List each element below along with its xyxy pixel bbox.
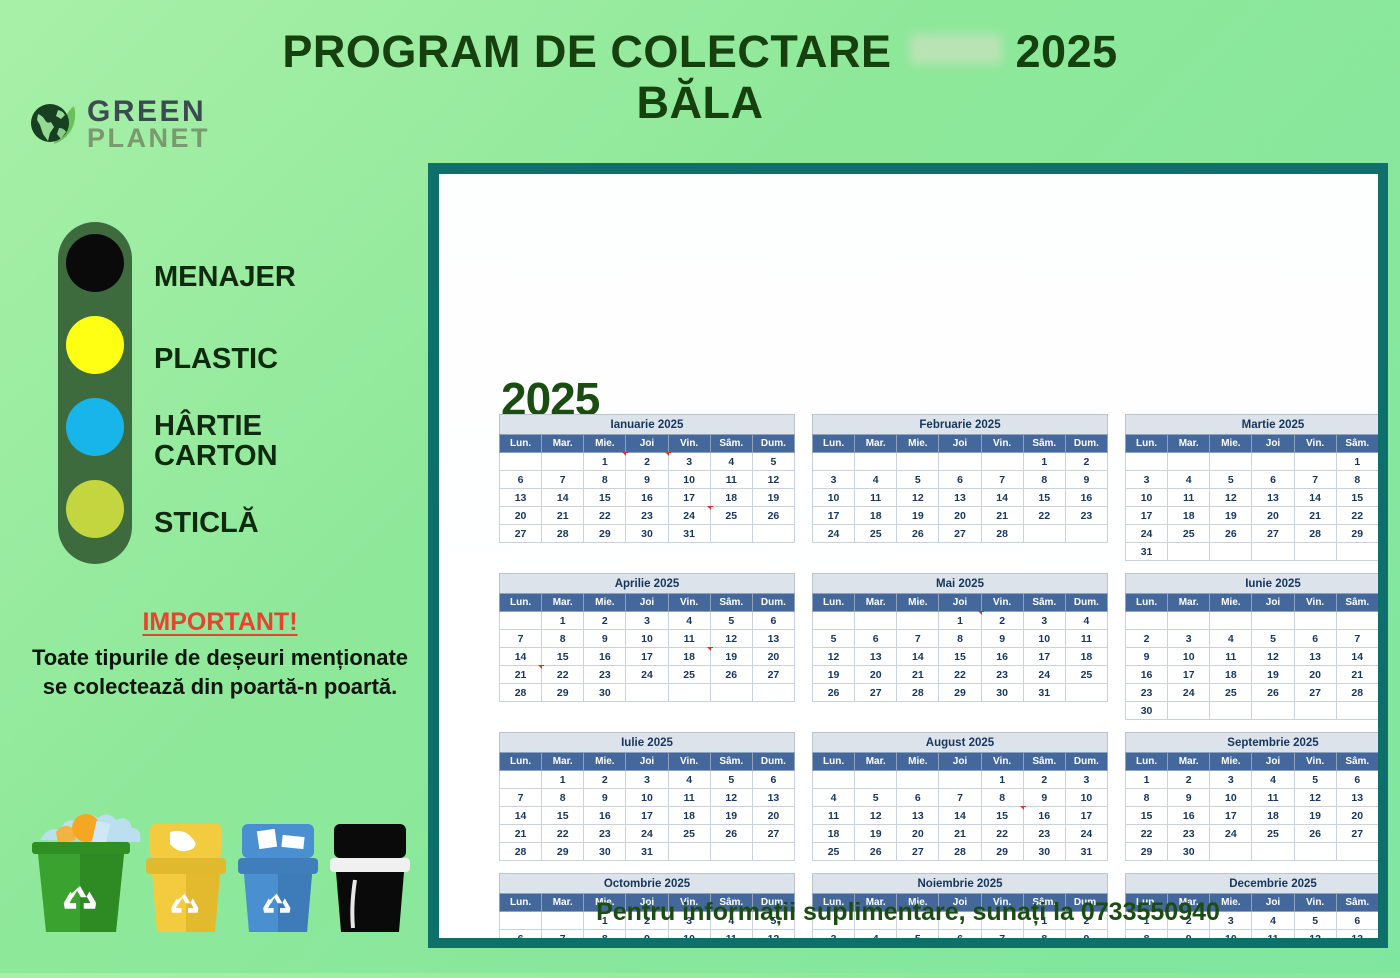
day-cell-empty [813,612,855,630]
day-cell: 20 [752,807,794,825]
day-cell: 11 [1252,789,1294,807]
day-cell: 7 [897,630,939,648]
day-cell: 1 [1336,453,1378,471]
day-cell-empty [897,771,939,789]
month-table: Lun.Mar.Mie.JoiVin.Sâm.Dum.1234567891011… [499,752,795,861]
day-cell: 4 [855,471,897,489]
day-cell: 9 [626,930,668,939]
legend-label-plastic: PLASTIC [154,318,296,400]
weekday-header: Dum. [1065,435,1107,453]
day-cell: 7 [939,789,981,807]
day-cell: 13 [752,789,794,807]
day-cell: 3 [1065,771,1107,789]
day-cell-empty [1252,453,1294,471]
day-cell: 5 [710,771,752,789]
day-cell: 21 [542,507,584,525]
day-cell: 17 [1168,666,1210,684]
day-cell: 19 [813,666,855,684]
week-row: 25262728293031 [813,843,1108,861]
day-cell: 8 [1023,930,1065,939]
day-cell: 13 [1294,648,1336,666]
day-cell: 4 [1210,630,1252,648]
day-cell: 7 [500,630,542,648]
day-cell: 18 [855,507,897,525]
day-cell: 24 [1023,666,1065,684]
recycling-bins-illustration [10,798,430,973]
week-row: 18192021222324 [813,825,1108,843]
day-cell: 4 [710,453,752,471]
day-cell: 28 [500,843,542,861]
day-cell: 1 [981,771,1023,789]
weekday-header: Sâm. [1023,435,1065,453]
weekday-header: Lun. [1126,435,1168,453]
day-cell: 17 [626,807,668,825]
month-block: Iunie 2025Lun.Mar.Mie.JoiVin.Sâm.Dum.123… [1125,573,1378,732]
day-cell: 8 [1126,930,1168,939]
weekday-header: Vin. [668,753,710,771]
day-cell: 26 [710,666,752,684]
day-cell: 29 [1336,525,1378,543]
day-cell: 26 [813,684,855,702]
day-cell: 22 [981,825,1023,843]
month-spacer [499,702,795,714]
day-cell: 14 [500,807,542,825]
week-row: 1234 [813,612,1108,630]
day-cell: 16 [981,648,1023,666]
important-note: IMPORTANT! Toate tipurile de deșeuri men… [0,608,440,701]
day-cell: 14 [897,648,939,666]
day-cell: 15 [542,807,584,825]
week-row: 24252627282930 [1126,525,1379,543]
day-cell: 2 [1168,771,1210,789]
weekday-header: Sâm. [1336,753,1378,771]
weekday-header: Joi [1252,753,1294,771]
week-row: 891011121314 [1126,789,1379,807]
weekday-header: Joi [939,435,981,453]
day-cell: 3 [813,471,855,489]
day-cell: 19 [1294,807,1336,825]
day-cell: 13 [1336,789,1378,807]
month-spacer [499,861,795,873]
calendar-months-grid: Ianuarie 2025Lun.Mar.Mie.JoiVin.Sâm.Dum.… [499,414,1378,938]
day-cell: 15 [1023,489,1065,507]
legend-label-sticla: STICLĂ [154,482,296,564]
day-cell: 19 [710,648,752,666]
day-cell: 23 [1023,825,1065,843]
day-cell: 24 [1210,825,1252,843]
day-cell: 27 [855,684,897,702]
brand-logo: GREEN PLANET [28,98,210,150]
day-cell: 30 [584,843,626,861]
day-cell: 26 [752,507,794,525]
day-cell-empty [1168,702,1210,720]
day-cell: 12 [897,489,939,507]
weekday-header: Lun. [1126,753,1168,771]
day-cell: 1 [939,612,981,630]
day-cell: 9 [1065,930,1107,939]
week-row: 10111213141516 [1126,489,1379,507]
day-cell: 14 [1294,489,1336,507]
day-cell: 23 [584,666,626,684]
weekday-header: Joi [626,435,668,453]
weekday-header: Sâm. [1023,753,1065,771]
month-title: Octombrie 2025 [499,873,795,893]
day-cell: 9 [1168,930,1210,939]
day-cell: 11 [855,489,897,507]
day-cell: 3 [626,771,668,789]
week-row: 262728293031 [813,684,1108,702]
month-block: Iulie 2025Lun.Mar.Mie.JoiVin.Sâm.Dum.123… [499,732,795,873]
day-cell: 29 [584,525,626,543]
day-cell: 8 [1023,471,1065,489]
month-title: August 2025 [812,732,1108,752]
day-cell: 11 [1252,930,1294,939]
legend-dot-menajer [66,234,124,292]
week-row: 2728293031 [500,525,795,543]
day-cell: 6 [752,612,794,630]
day-cell-empty [1210,543,1252,561]
day-cell-empty [1294,843,1336,861]
week-row: 13141516171819 [500,489,795,507]
weekday-header: Mar. [542,594,584,612]
day-cell-empty [1065,684,1107,702]
day-cell: 9 [1168,789,1210,807]
day-cell: 15 [584,489,626,507]
day-cell-empty [1294,453,1336,471]
day-cell: 31 [626,843,668,861]
day-cell: 25 [813,843,855,861]
day-cell: 20 [500,507,542,525]
day-cell: 22 [939,666,981,684]
day-cell: 22 [1126,825,1168,843]
weekday-header: Lun. [500,753,542,771]
day-cell: 28 [939,843,981,861]
important-heading: IMPORTANT! [0,608,440,637]
day-cell: 4 [1065,612,1107,630]
week-row: 22232425262728 [1126,825,1379,843]
day-cell: 2 [584,771,626,789]
day-cell: 25 [1065,666,1107,684]
day-cell: 13 [939,489,981,507]
month-spacer [812,702,1108,714]
week-row: 12345 [500,453,795,471]
day-cell: 27 [752,825,794,843]
month-table: Lun.Mar.Mie.JoiVin.Sâm.Dum.1234567891011… [812,593,1108,702]
day-cell: 3 [813,930,855,939]
week-row: 891011121314 [1126,930,1379,939]
day-cell: 16 [626,489,668,507]
day-cell: 30 [626,525,668,543]
day-cell: 19 [1252,666,1294,684]
weekday-header: Mie. [584,594,626,612]
day-cell: 22 [542,666,584,684]
day-cell: 30 [981,684,1023,702]
day-cell: 25 [855,525,897,543]
day-cell: 1 [542,612,584,630]
day-cell: 8 [542,789,584,807]
day-cell: 21 [1294,507,1336,525]
day-cell: 15 [542,648,584,666]
day-cell: 16 [1168,807,1210,825]
day-cell: 5 [1252,630,1294,648]
weekday-header: Sâm. [710,594,752,612]
day-cell: 27 [939,525,981,543]
day-cell: 24 [626,666,668,684]
day-cell: 18 [710,489,752,507]
day-cell: 9 [584,630,626,648]
weekday-header: Mar. [855,594,897,612]
day-cell: 28 [542,525,584,543]
day-cell: 10 [668,471,710,489]
day-cell: 25 [668,825,710,843]
day-cell: 6 [939,930,981,939]
day-cell-empty [1126,453,1168,471]
day-cell: 6 [939,471,981,489]
week-row: 21222324252627 [500,666,795,684]
day-cell: 5 [897,471,939,489]
day-cell-empty [1168,543,1210,561]
legend-text-plastic: PLASTIC [154,344,296,374]
day-cell: 23 [981,666,1023,684]
waste-type-legend: MENAJER PLASTIC HÂRTIE CARTON STICLĂ [58,222,296,564]
week-row: 14151617181920 [500,807,795,825]
day-cell-empty [542,453,584,471]
day-cell: 9 [981,630,1023,648]
week-row: 12 [813,453,1108,471]
day-cell: 3 [1023,612,1065,630]
day-cell: 6 [897,789,939,807]
day-cell: 29 [1126,843,1168,861]
day-cell: 10 [813,489,855,507]
day-cell-empty [1210,702,1252,720]
day-cell: 18 [668,807,710,825]
weekday-header: Mar. [1168,435,1210,453]
week-row: 11121314151617 [813,807,1108,825]
week-row: 78910111213 [500,630,795,648]
weekday-header: Dum. [752,753,794,771]
day-cell: 19 [855,825,897,843]
city-name: BĂLA [0,77,1400,129]
day-cell: 28 [1294,525,1336,543]
weekday-header: Lun. [813,753,855,771]
month-table: Lun.Mar.Mie.JoiVin.Sâm.Dum.1234567891011… [812,434,1108,543]
day-cell: 31 [1065,843,1107,861]
week-row: 3456789 [813,930,1108,939]
day-cell: 23 [1065,507,1107,525]
day-cell: 3 [1210,771,1252,789]
month-title: Septembrie 2025 [1125,732,1378,752]
day-cell: 12 [1294,789,1336,807]
day-cell: 4 [813,789,855,807]
day-cell: 15 [981,807,1023,825]
calendar-panel-inner: 2025 Ianuarie 2025Lun.Mar.Mie.JoiVin.Sâm… [439,174,1378,938]
day-cell-empty [855,453,897,471]
day-cell: 14 [939,807,981,825]
day-cell: 5 [813,630,855,648]
day-cell: 25 [1210,684,1252,702]
day-cell: 12 [1252,648,1294,666]
day-cell: 5 [897,930,939,939]
day-cell: 23 [1168,825,1210,843]
day-cell-empty [1168,453,1210,471]
weekday-header: Sâm. [710,753,752,771]
weekday-header: Mie. [897,435,939,453]
day-cell-empty [855,771,897,789]
day-cell: 23 [626,507,668,525]
day-cell: 13 [855,648,897,666]
month-title: Iulie 2025 [499,732,795,752]
day-cell: 4 [668,771,710,789]
day-cell: 3 [1168,630,1210,648]
day-cell-empty [1336,543,1378,561]
day-cell: 10 [1210,930,1252,939]
day-cell: 1 [584,453,626,471]
weekday-header: Vin. [981,753,1023,771]
weekday-header: Vin. [1294,753,1336,771]
legend-text-carton: CARTON [154,441,296,471]
green-bin-icon [32,814,140,932]
day-cell: 11 [710,930,752,939]
day-cell: 5 [710,612,752,630]
globe-leaf-icon [28,98,80,150]
month-spacer [812,861,1108,873]
week-row: 17181920212223 [813,507,1108,525]
day-cell: 12 [752,471,794,489]
day-cell: 26 [855,843,897,861]
day-cell: 20 [897,825,939,843]
day-cell: 21 [939,825,981,843]
week-row: 6789101112 [500,930,795,939]
day-cell: 31 [668,525,710,543]
day-cell: 7 [981,930,1023,939]
day-cell: 21 [981,507,1023,525]
day-cell: 11 [813,807,855,825]
day-cell: 27 [500,525,542,543]
legend-text-hartie: HÂRTIE [154,411,296,441]
month-title: Aprilie 2025 [499,573,795,593]
weekday-header: Mar. [1168,753,1210,771]
day-cell: 26 [710,825,752,843]
day-cell: 2 [981,612,1023,630]
logo-line-planet: PLANET [87,126,210,151]
day-cell: 11 [1210,648,1252,666]
weekday-header: Mie. [1210,435,1252,453]
weekday-header: Dum. [1065,753,1107,771]
yellow-bin-icon [146,824,226,932]
day-cell: 10 [1210,789,1252,807]
week-row: 567891011 [813,630,1108,648]
contact-footer: Pentru informații suplimentare, sunați l… [428,898,1388,927]
day-cell: 14 [981,489,1023,507]
month-block: Februarie 2025Lun.Mar.Mie.JoiVin.Sâm.Dum… [812,414,1108,573]
day-cell: 13 [1336,930,1378,939]
day-cell: 28 [1336,684,1378,702]
day-cell-empty [813,771,855,789]
day-cell: 7 [542,930,584,939]
day-cell: 6 [855,630,897,648]
day-cell: 17 [1065,807,1107,825]
day-cell: 29 [542,843,584,861]
week-row: 16171819202122 [1126,666,1379,684]
day-cell-empty [1210,843,1252,861]
day-cell: 1 [1126,771,1168,789]
day-cell: 23 [1126,684,1168,702]
day-cell: 8 [981,789,1023,807]
day-cell-empty [1126,612,1168,630]
day-cell: 24 [1126,525,1168,543]
day-cell: 9 [1023,789,1065,807]
day-cell: 11 [1168,489,1210,507]
week-row: 10111213141516 [813,489,1108,507]
day-cell: 10 [1126,489,1168,507]
day-cell: 3 [668,453,710,471]
weekday-header: Vin. [668,435,710,453]
day-cell: 15 [939,648,981,666]
weekday-header: Dum. [1065,594,1107,612]
day-cell: 26 [897,525,939,543]
month-table: Lun.Mar.Mie.JoiVin.Sâm.Dum.1234567891011… [499,434,795,543]
day-cell: 18 [1210,666,1252,684]
day-cell: 6 [1336,771,1378,789]
day-cell-empty [897,453,939,471]
week-row: 21222324252627 [500,825,795,843]
week-row: 123456 [500,771,795,789]
day-cell: 30 [1168,843,1210,861]
day-cell-empty [1168,612,1210,630]
day-cell: 17 [813,507,855,525]
month-table: Lun.Mar.Mie.JoiVin.Sâm.Dum.1234567891011… [812,752,1108,861]
day-cell: 10 [626,789,668,807]
day-cell-empty [1294,543,1336,561]
day-cell: 2 [1065,453,1107,471]
month-title: Noiembrie 2025 [812,873,1108,893]
legend-dot-sticla [66,480,124,538]
day-cell: 16 [1023,807,1065,825]
legend-traffic-bar [58,222,132,564]
day-cell: 14 [500,648,542,666]
day-cell: 18 [813,825,855,843]
weekday-header: Sâm. [1023,594,1065,612]
day-cell: 24 [1168,684,1210,702]
weekday-header: Joi [626,594,668,612]
day-cell-empty [1252,843,1294,861]
day-cell: 11 [710,471,752,489]
weekday-header: Joi [939,594,981,612]
legend-label-menajer: MENAJER [154,236,296,318]
day-cell: 30 [1126,702,1168,720]
day-cell: 14 [542,489,584,507]
day-cell-empty [752,843,794,861]
day-cell-empty [626,684,668,702]
day-cell: 2 [1023,771,1065,789]
day-cell: 4 [855,930,897,939]
day-cell: 20 [1336,807,1378,825]
day-cell: 6 [752,771,794,789]
day-cell: 8 [542,630,584,648]
day-cell-empty [710,684,752,702]
day-cell: 17 [668,489,710,507]
month-spacer [1125,861,1378,873]
day-cell: 8 [1336,471,1378,489]
day-cell: 22 [584,507,626,525]
blue-bin-icon [238,824,318,932]
day-cell: 20 [939,507,981,525]
weekday-header: Joi [626,753,668,771]
weekday-header: Vin. [1294,435,1336,453]
day-cell-empty [813,453,855,471]
day-cell: 12 [813,648,855,666]
day-cell: 24 [668,507,710,525]
